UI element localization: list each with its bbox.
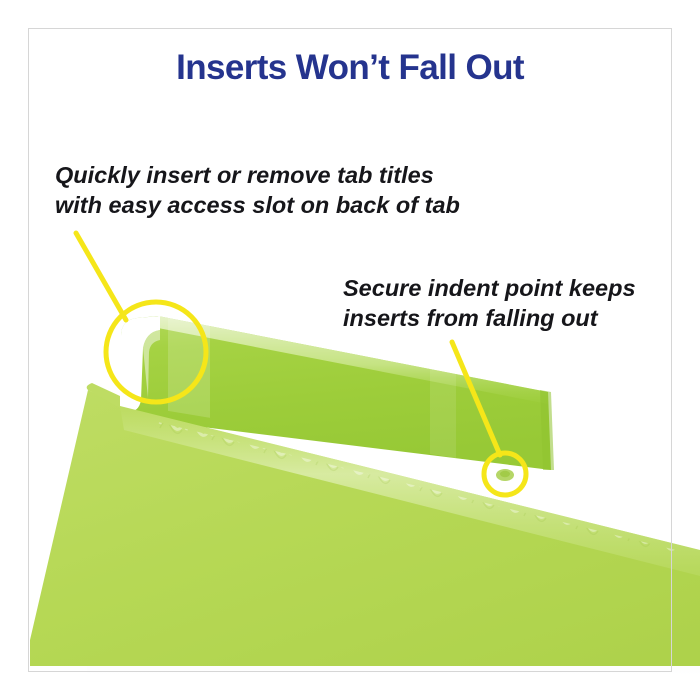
callout-left: Quickly insert or remove tab titles with… — [55, 160, 460, 220]
callout-left-line-2: with easy access slot on back of tab — [55, 190, 460, 220]
callout-right-line-2: inserts from falling out — [343, 303, 636, 333]
page-title: Inserts Won’t Fall Out — [0, 48, 700, 88]
callout-left-line-1: Quickly insert or remove tab titles — [55, 160, 460, 190]
callout-right-line-1: Secure indent point keeps — [343, 273, 636, 303]
product-photo — [0, 0, 700, 700]
product-feature-image: Inserts Won’t Fall Out Quickly insert or… — [0, 0, 700, 700]
callout-right: Secure indent point keeps inserts from f… — [343, 273, 636, 333]
